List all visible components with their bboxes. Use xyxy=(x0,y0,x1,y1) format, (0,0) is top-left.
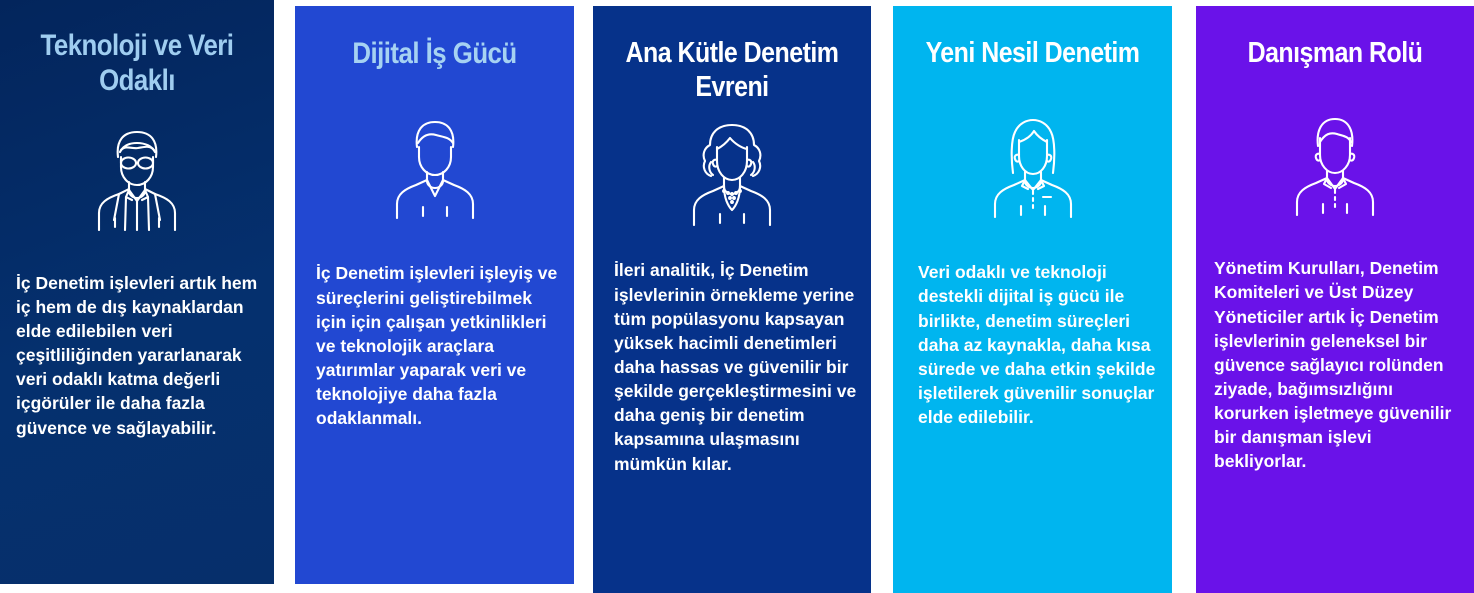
card-body: İleri analitik, İç Denetim işlevlerinin … xyxy=(614,258,857,475)
card-body: Veri odaklı ve teknoloji destekli dijita… xyxy=(918,260,1158,429)
card-body: Yönetim Kurulları, Denetim Komiteleri ve… xyxy=(1214,256,1462,473)
card-body: İç Denetim işlevleri artık hem iç hem de… xyxy=(16,271,264,440)
card-title: Teknoloji ve Veri Odaklı xyxy=(19,0,255,99)
card-danisman-rolu[interactable]: Danışman Rolü Yönetim Kurulları, Denetim… xyxy=(1196,6,1474,593)
person-collared-shirt-icon xyxy=(1196,116,1474,216)
card-title: Dijital İş Gücü xyxy=(315,6,555,71)
card-board: Teknoloji ve Veri Odaklı xyxy=(0,0,1474,593)
person-long-hair-shirt-icon xyxy=(893,118,1172,218)
card-title: Danışman Rolü xyxy=(1215,6,1454,70)
person-with-glasses-suit-icon xyxy=(0,119,274,231)
card-yeni-nesil-denetim[interactable]: Yeni Nesil Denetim Veri odaklı ve tek xyxy=(893,6,1172,593)
card-body: İç Denetim işlevleri işleyiş ve süreçler… xyxy=(316,261,560,430)
card-dijital-is-gucu[interactable]: Dijital İş Gücü İç Denetim işlevleri işl… xyxy=(295,6,574,584)
person-vneck-sweater-icon xyxy=(295,119,574,219)
card-title: Ana Kütle Denetim Evreni xyxy=(612,6,851,104)
card-ana-kutle-denetim-evreni[interactable]: Ana Kütle Denetim Evreni xyxy=(593,6,871,593)
card-title: Yeni Nesil Denetim xyxy=(913,6,1153,70)
card-teknoloji-ve-veri-odakli[interactable]: Teknoloji ve Veri Odaklı xyxy=(0,0,274,584)
person-curly-hair-necklace-icon xyxy=(593,122,871,226)
